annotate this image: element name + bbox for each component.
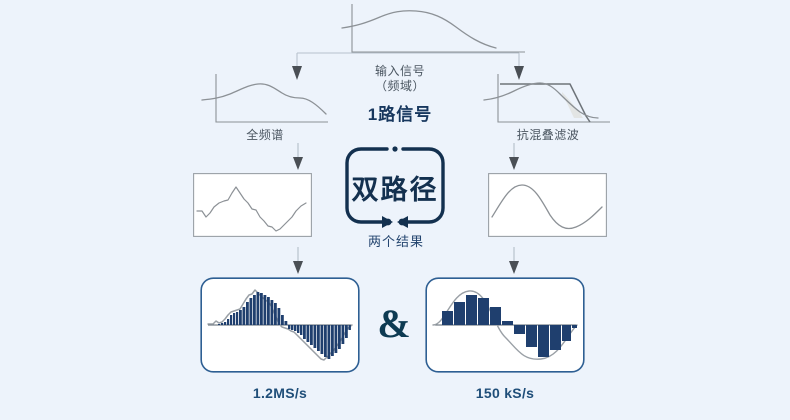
two-results-label: 两个结果 [350, 231, 442, 250]
low-rate-result-box [425, 277, 585, 373]
sine-waveform-box [488, 173, 607, 237]
low-rate-label: 150 kS/s [425, 385, 585, 401]
signal-count-label: 1路信号 [320, 100, 480, 125]
full-spectrum-label: 全频谱 [205, 126, 325, 143]
anti-alias-filter-graph [482, 72, 612, 130]
dual-path-badge-text: 双路径 [343, 168, 447, 207]
arrow-left-to-result [290, 247, 306, 275]
high-rate-result-box [200, 277, 360, 373]
anti-alias-filter-label: 抗混叠滤波 [483, 126, 613, 143]
arrow-right-to-result [506, 247, 522, 275]
high-rate-label: 1.2MS/s [200, 385, 360, 401]
arrow-left-to-mid [290, 143, 306, 171]
ampersand-connector: & [371, 300, 417, 347]
noisy-waveform-box [193, 173, 312, 237]
diagram-canvas: 输入信号 （频域） 1路信号 全频谱 [0, 0, 790, 420]
arrow-right-to-mid [506, 143, 522, 171]
full-spectrum-graph [200, 72, 330, 130]
